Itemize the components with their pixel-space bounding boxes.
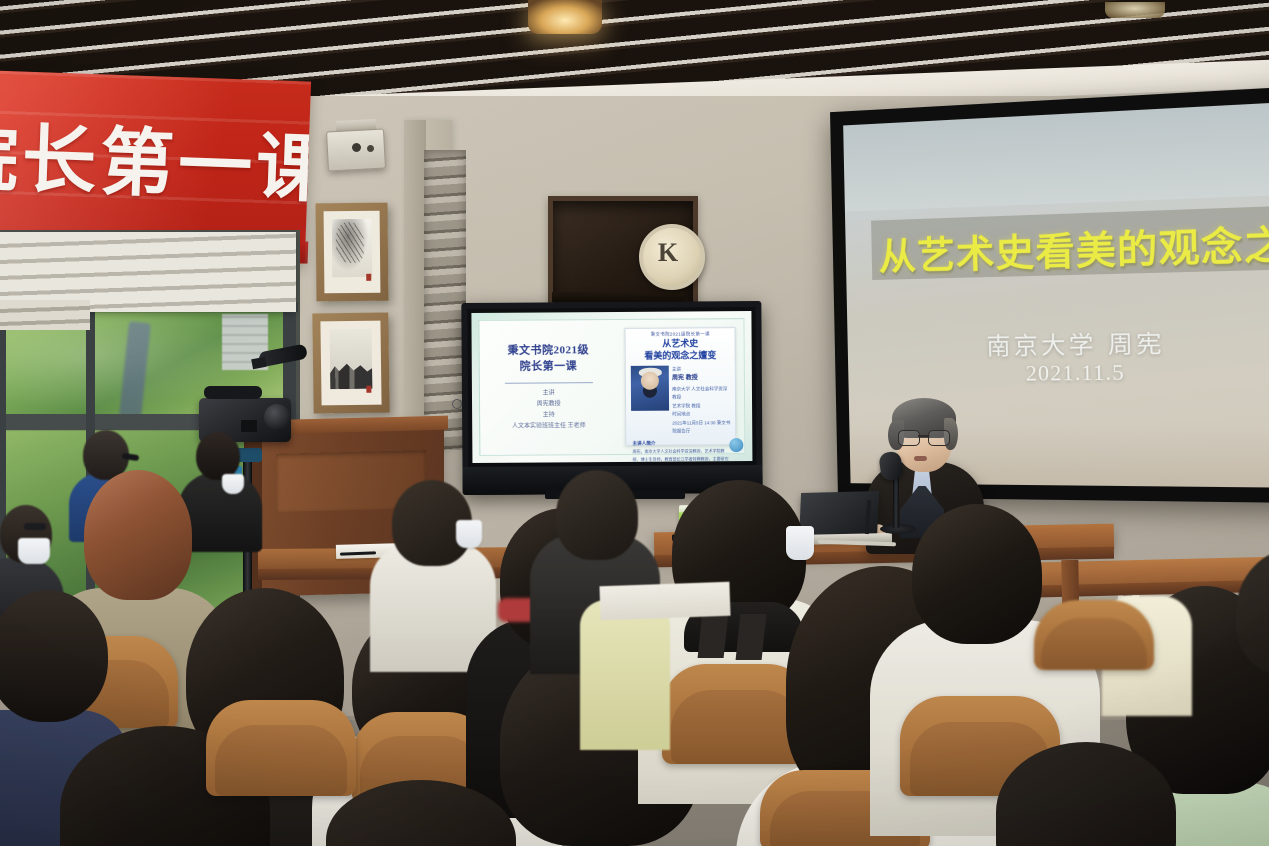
alcove-shelf xyxy=(552,292,684,302)
person-head xyxy=(84,470,192,600)
slide-sub-3: 人文本实验班班主任 王老师 xyxy=(512,421,586,433)
artist-seal-icon xyxy=(366,274,371,281)
monitor-slide: 秉文书院2021级 院长第一课 主讲 周宪教授 主持 人文本实验班班主任 王老师… xyxy=(478,318,745,456)
framed-print-upper xyxy=(315,203,388,302)
projector-sensor-icon xyxy=(367,145,374,152)
glasses-lens-right xyxy=(928,430,950,446)
vent-frame xyxy=(404,120,426,450)
slide-heading-line2: 院长第一课 xyxy=(520,359,578,376)
slide-sub-0: 主讲 xyxy=(543,388,555,399)
sweater-pattern-block xyxy=(698,612,729,658)
artist-seal-icon xyxy=(366,386,371,393)
slide-right-column: 秉文书院2021级院长第一课 从艺术史 看美的观念之嬗变 主讲 周宪 教授 南京… xyxy=(617,319,745,454)
screen-subtitle-text: 南京大学 周宪 xyxy=(847,321,1269,363)
ceiling-lamp-secondary-icon xyxy=(1105,2,1165,18)
print-artwork xyxy=(329,329,372,390)
paper-sheet xyxy=(599,582,730,621)
poster-speaker-name: 周宪 教授 xyxy=(672,373,730,385)
camera-lens-icon xyxy=(264,404,290,430)
poster-title-line2: 看美的观念之嬗变 xyxy=(644,351,716,363)
window-blinds-secondary[interactable] xyxy=(0,300,90,330)
event-poster: 秉文书院2021级院长第一课 从艺术史 看美的观念之嬗变 主讲 周宪 教授 南京… xyxy=(625,327,737,446)
projector-lens-icon xyxy=(352,143,361,152)
glasses-lens-left xyxy=(898,430,920,446)
eyeglasses-icon xyxy=(24,523,46,530)
screen-top-gradient xyxy=(843,101,1269,212)
person-head xyxy=(556,470,638,560)
camera-top-handle xyxy=(204,386,262,399)
poster-bio-block: 主讲人简介 周宪，南京大学人文社会科学资深教授，艺术学院教授、博士生导师，教育部… xyxy=(628,436,733,463)
clock-brand-mark: K xyxy=(639,224,697,282)
wall-monitor: 秉文书院2021级 院长第一课 主讲 周宪教授 主持 人文本实验班班主任 王老师… xyxy=(461,301,762,495)
print-artwork xyxy=(331,218,372,277)
slide-sub-1: 周宪教授 xyxy=(537,399,561,410)
face-mask-icon xyxy=(222,474,244,494)
slide-sub-2: 主持 xyxy=(543,410,555,421)
poster-speaker-block: 主讲 周宪 教授 南京大学 人文社会科学资深教授 艺术学院 教授 时间地点 20… xyxy=(628,365,733,437)
face-mask-icon xyxy=(456,520,482,548)
poster-kicker: 秉文书院2021级院长第一课 xyxy=(651,331,710,337)
framed-print-lower xyxy=(312,312,389,413)
poster-title-line1: 从艺术史 xyxy=(662,339,698,351)
slide-left-column: 秉文书院2021级 院长第一课 主讲 周宪教授 主持 人文本实验班班主任 王老师 xyxy=(479,320,617,455)
chair[interactable] xyxy=(206,700,356,796)
ceiling-lamp-icon xyxy=(528,0,602,34)
tree-trunk xyxy=(119,321,151,419)
audience-sleeve xyxy=(580,600,670,750)
poster-time-value: 2021年11月5日 14:30 秉文书院报告厅 xyxy=(672,419,730,436)
person-head xyxy=(196,432,240,480)
face-mask-icon xyxy=(786,526,814,560)
slide-decorative-dot-icon xyxy=(729,438,743,452)
banner-text: 院长第一课 xyxy=(0,97,311,217)
poster-portrait-photo xyxy=(631,365,669,410)
monitor-screen: 秉文书院2021级 院长第一课 主讲 周宪教授 主持 人文本实验班班主任 王老师… xyxy=(471,311,752,463)
poster-bio-text: 周宪，南京大学人文社会科学资深教授，艺术学院教授、博士生导师，教育部长江学者特聘… xyxy=(633,448,730,463)
poster-affiliation-1: 南京大学 人文社会科学资深教授 xyxy=(672,385,730,402)
sweater-pattern-block xyxy=(736,614,767,660)
face-mask-icon xyxy=(18,538,50,564)
lecture-room-photograph: 院长第一课 K 从艺术史看美的观念之嬗变 南京大学 周宪 2021.11.5 xyxy=(0,0,1269,846)
screen-date-text: 2021.11.5 xyxy=(848,358,1269,388)
person-head xyxy=(912,504,1042,644)
speaker-glasses-icon xyxy=(898,430,950,444)
slide-divider xyxy=(505,382,593,384)
chair[interactable] xyxy=(1034,600,1154,670)
speaker-mouth xyxy=(914,456,927,461)
poster-speaker-meta: 主讲 周宪 教授 南京大学 人文社会科学资深教授 艺术学院 教授 时间地点 20… xyxy=(672,365,730,437)
slide-heading-line1: 秉文书院2021级 xyxy=(508,342,590,359)
camera-viewfinder xyxy=(241,420,257,432)
